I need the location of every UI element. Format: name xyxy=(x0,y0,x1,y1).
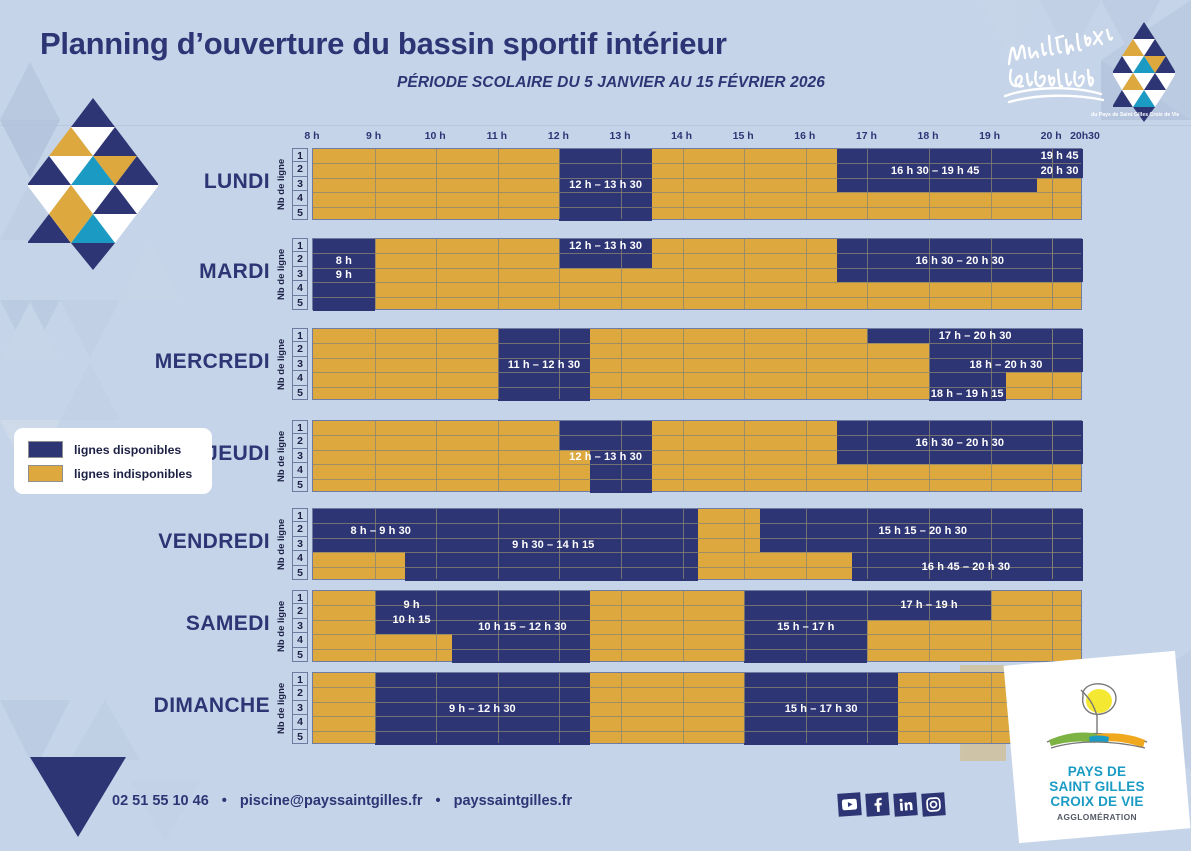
lane-track[interactable] xyxy=(313,343,1081,357)
day-row-mercredi: MERCREDINb de ligne1234511 h – 12 h 3017… xyxy=(0,328,1191,400)
lane-number-column: 12345 xyxy=(292,148,308,220)
hour-gridline xyxy=(991,239,992,309)
hour-gridline xyxy=(375,591,376,661)
available-slot[interactable] xyxy=(929,372,1006,386)
hour-gridline xyxy=(929,591,930,661)
hour-gridline xyxy=(559,149,560,219)
hour-gridline xyxy=(867,149,868,219)
hour-tick: 8 h xyxy=(304,130,319,142)
lane-track[interactable] xyxy=(313,421,1081,435)
available-slot[interactable] xyxy=(498,358,590,372)
available-slot[interactable] xyxy=(452,649,591,663)
lane-gridline xyxy=(313,253,1081,254)
available-slot[interactable] xyxy=(837,435,1083,449)
social-links xyxy=(838,793,945,816)
lane-track[interactable] xyxy=(313,207,1081,221)
day-grid: 9 h – 12 h 3015 h – 17 h 30 xyxy=(312,672,1082,744)
lane-track[interactable] xyxy=(313,149,1081,163)
lane-number: 4 xyxy=(292,191,308,205)
lane-track[interactable] xyxy=(313,634,1081,648)
day-grid: 12 h – 13 h 3016 h 30 – 20 h 30 xyxy=(312,420,1082,492)
available-slot[interactable] xyxy=(498,329,590,343)
hour-gridline xyxy=(683,329,684,399)
available-slot[interactable] xyxy=(313,253,375,267)
lane-gridline xyxy=(313,192,1081,193)
available-slot[interactable] xyxy=(929,387,1006,401)
available-slot[interactable] xyxy=(852,567,1083,581)
email-address[interactable]: piscine@payssaintgilles.fr xyxy=(240,793,423,809)
available-slot[interactable] xyxy=(837,253,1083,267)
separator-2: • xyxy=(436,793,441,809)
hour-gridline xyxy=(1052,591,1053,661)
hour-gridline xyxy=(1052,421,1053,491)
page-subtitle: PÉRIODE SCOLAIRE DU 5 JANVIER AU 15 FÉVR… xyxy=(40,74,825,92)
lane-gridline xyxy=(313,567,1081,568)
nb-de-ligne-axis-label: Nb de ligne xyxy=(276,328,290,400)
lane-gridline xyxy=(313,387,1081,388)
lane-gridline xyxy=(313,716,1081,717)
multiplexe-aquatique-logo: du Pays de Saint Gilles Croix de Vie xyxy=(995,14,1185,126)
hour-gridline xyxy=(559,329,560,399)
available-slot[interactable] xyxy=(498,387,590,401)
available-slot[interactable] xyxy=(375,702,591,716)
available-slot[interactable] xyxy=(375,687,591,701)
lane-number: 3 xyxy=(292,357,308,371)
legend-swatch-unavailable xyxy=(28,465,63,482)
hour-gridline xyxy=(1052,509,1053,579)
hour-gridline xyxy=(867,239,868,309)
hour-gridline xyxy=(1052,149,1053,219)
hour-gridline xyxy=(683,509,684,579)
hour-tick: 19 h xyxy=(979,130,1000,142)
lane-gridline xyxy=(313,268,1081,269)
lane-gridline xyxy=(313,282,1081,283)
lane-track[interactable] xyxy=(313,649,1081,663)
hour-gridline xyxy=(498,149,499,219)
hour-gridline xyxy=(991,329,992,399)
lane-number: 2 xyxy=(292,252,308,266)
available-slot[interactable] xyxy=(313,297,375,311)
hour-tick: 14 h xyxy=(671,130,692,142)
lane-track[interactable] xyxy=(313,509,1081,523)
available-slot[interactable] xyxy=(559,421,651,435)
available-slot[interactable] xyxy=(837,163,1083,177)
hour-gridline xyxy=(867,673,868,743)
hour-gridline xyxy=(621,591,622,661)
linkedin-icon[interactable] xyxy=(893,792,918,817)
nb-de-ligne-axis-label: Nb de ligne xyxy=(276,508,290,580)
lane-track[interactable] xyxy=(313,702,1081,716)
multiplexe-subtitle: du Pays de Saint Gilles Croix de Vie xyxy=(1091,112,1179,118)
hour-tick: 16 h xyxy=(794,130,815,142)
hour-gridline xyxy=(375,673,376,743)
available-slot[interactable] xyxy=(375,673,591,687)
available-slot[interactable] xyxy=(313,509,698,523)
day-row-vendredi: VENDREDINb de ligne123458 h – 9 h 309 h … xyxy=(0,508,1191,580)
lane-track[interactable] xyxy=(313,552,1081,566)
hour-gridline xyxy=(683,673,684,743)
hour-gridline xyxy=(991,673,992,743)
lane-gridline xyxy=(313,178,1081,179)
lane-track[interactable] xyxy=(313,716,1081,730)
day-grid: 8 h9 h12 h – 13 h 3016 h 30 – 20 h 30 xyxy=(312,238,1082,310)
lane-number: 2 xyxy=(292,604,308,618)
legend-item-unavailable: lignes indisponibles xyxy=(28,463,212,484)
youtube-icon[interactable] xyxy=(837,792,862,817)
available-slot[interactable] xyxy=(375,731,591,745)
lane-track[interactable] xyxy=(313,605,1081,619)
available-slot[interactable] xyxy=(837,239,1083,253)
available-slot[interactable] xyxy=(375,620,591,634)
lane-number: 4 xyxy=(292,715,308,729)
hour-tick: 12 h xyxy=(548,130,569,142)
hour-gridline xyxy=(559,591,560,661)
available-slot[interactable] xyxy=(405,567,698,581)
hour-gridline xyxy=(929,509,930,579)
lane-track[interactable] xyxy=(313,450,1081,464)
hour-gridline xyxy=(744,509,745,579)
hour-gridline xyxy=(744,673,745,743)
lane-gridline xyxy=(313,687,1081,688)
hour-gridline xyxy=(621,239,622,309)
hour-gridline xyxy=(867,591,868,661)
hour-gridline xyxy=(991,421,992,491)
hour-tick: 13 h xyxy=(609,130,630,142)
lane-gridline xyxy=(313,450,1081,451)
hour-gridline xyxy=(498,239,499,309)
lane-track[interactable] xyxy=(313,523,1081,537)
available-slot[interactable] xyxy=(559,192,651,206)
hour-gridline xyxy=(929,329,930,399)
agglo-line-3: CROIX DE VIE xyxy=(1011,794,1183,809)
lane-gridline xyxy=(313,479,1081,480)
lane-track[interactable] xyxy=(313,620,1081,634)
agglo-flower-icon xyxy=(1037,682,1157,760)
hour-gridline xyxy=(559,421,560,491)
lane-gridline xyxy=(313,297,1081,298)
lane-number: 4 xyxy=(292,463,308,477)
lane-gridline xyxy=(313,523,1081,524)
day-grid: 8 h – 9 h 309 h 30 – 14 h 1515 h 15 – 20… xyxy=(312,508,1082,580)
hour-gridline xyxy=(806,591,807,661)
time-axis: 8 h9 h10 h11 h12 h13 h14 h15 h16 h17 h18… xyxy=(0,130,1191,148)
available-slot[interactable] xyxy=(837,421,1083,435)
hour-gridline xyxy=(991,149,992,219)
nb-de-ligne-axis-label: Nb de ligne xyxy=(276,672,290,744)
available-slot[interactable] xyxy=(837,450,1083,464)
separator-1: • xyxy=(222,793,227,809)
lane-number-column: 12345 xyxy=(292,238,308,310)
lane-number-column: 12345 xyxy=(292,672,308,744)
phone-number[interactable]: 02 51 55 10 46 xyxy=(112,793,209,809)
lane-number: 1 xyxy=(292,238,308,252)
lane-number: 5 xyxy=(292,478,308,492)
hour-gridline xyxy=(929,239,930,309)
hour-gridline xyxy=(559,239,560,309)
hour-tick: 20 h xyxy=(1041,130,1062,142)
available-slot[interactable] xyxy=(313,268,375,282)
lane-number: 4 xyxy=(292,551,308,565)
hour-gridline xyxy=(559,509,560,579)
available-slot[interactable] xyxy=(375,591,591,605)
lane-number: 3 xyxy=(292,449,308,463)
hour-gridline xyxy=(929,421,930,491)
available-slot[interactable] xyxy=(313,282,375,296)
nb-de-ligne-axis-label: Nb de ligne xyxy=(276,590,290,662)
lane-track[interactable] xyxy=(313,239,1081,253)
available-slot[interactable] xyxy=(313,538,698,552)
lane-number: 3 xyxy=(292,701,308,715)
lane-number: 1 xyxy=(292,672,308,686)
lane-track[interactable] xyxy=(313,282,1081,296)
available-slot[interactable] xyxy=(559,207,651,221)
day-grid: 11 h – 12 h 3017 h – 20 h 3018 h – 20 h … xyxy=(312,328,1082,400)
day-row-samedi: SAMEDINb de ligne123459 h10 h 1510 h 15 … xyxy=(0,590,1191,662)
lane-number: 5 xyxy=(292,206,308,220)
available-slot[interactable] xyxy=(744,702,898,716)
hour-gridline xyxy=(744,239,745,309)
lane-gridline xyxy=(313,207,1081,208)
hour-gridline xyxy=(498,329,499,399)
lane-track[interactable] xyxy=(313,163,1081,177)
hour-gridline xyxy=(436,509,437,579)
available-slot[interactable] xyxy=(837,268,1083,282)
available-slot[interactable] xyxy=(852,552,1083,566)
lane-gridline xyxy=(313,634,1081,635)
day-label: MERCREDI xyxy=(155,350,270,374)
hour-tick: 9 h xyxy=(366,130,381,142)
lane-gridline xyxy=(313,163,1081,164)
available-slot[interactable] xyxy=(313,523,698,537)
hour-gridline xyxy=(436,149,437,219)
hour-gridline xyxy=(375,149,376,219)
hour-tick: 17 h xyxy=(856,130,877,142)
facebook-icon[interactable] xyxy=(865,792,890,817)
lane-track[interactable] xyxy=(313,372,1081,386)
available-slot[interactable] xyxy=(559,253,651,267)
lane-number-column: 12345 xyxy=(292,328,308,400)
hour-gridline xyxy=(683,149,684,219)
lane-number: 1 xyxy=(292,508,308,522)
available-slot[interactable] xyxy=(405,552,698,566)
lane-number: 2 xyxy=(292,686,308,700)
lane-track[interactable] xyxy=(313,358,1081,372)
hour-gridline xyxy=(436,591,437,661)
lane-number-column: 12345 xyxy=(292,590,308,662)
lane-number: 4 xyxy=(292,371,308,385)
legend-item-available: lignes disponibles xyxy=(28,439,212,460)
hour-gridline xyxy=(744,591,745,661)
lane-number: 1 xyxy=(292,328,308,342)
hour-gridline xyxy=(867,509,868,579)
lane-number: 2 xyxy=(292,162,308,176)
available-slot[interactable] xyxy=(559,239,651,253)
lane-number-column: 12345 xyxy=(292,508,308,580)
lane-number: 5 xyxy=(292,730,308,744)
hour-gridline xyxy=(806,149,807,219)
available-slot[interactable] xyxy=(375,605,591,619)
lane-track[interactable] xyxy=(313,538,1081,552)
available-slot[interactable] xyxy=(867,329,1083,343)
available-slot[interactable] xyxy=(559,178,651,192)
contact-info: 02 51 55 10 46 • piscine@payssaintgilles… xyxy=(112,793,572,809)
available-slot[interactable] xyxy=(559,163,651,177)
lane-track[interactable] xyxy=(313,464,1081,478)
lane-number: 4 xyxy=(292,281,308,295)
hour-gridline xyxy=(498,421,499,491)
lane-gridline xyxy=(313,538,1081,539)
lane-number: 5 xyxy=(292,386,308,400)
lane-gridline xyxy=(313,620,1081,621)
available-slot[interactable] xyxy=(760,509,1083,523)
hour-gridline xyxy=(436,421,437,491)
lane-gridline xyxy=(313,358,1081,359)
hour-gridline xyxy=(929,149,930,219)
available-slot[interactable] xyxy=(498,343,590,357)
available-slot[interactable] xyxy=(744,731,898,745)
day-label: JEUDI xyxy=(206,442,270,466)
lane-number: 2 xyxy=(292,522,308,536)
hour-gridline xyxy=(436,329,437,399)
legend-label-available: lignes disponibles xyxy=(74,443,181,457)
legend: lignes disponibles lignes indisponibles xyxy=(14,428,212,494)
available-slot[interactable] xyxy=(929,358,1083,372)
available-slot[interactable] xyxy=(559,435,651,449)
hour-gridline xyxy=(744,149,745,219)
hour-gridline xyxy=(744,421,745,491)
hour-tick: 18 h xyxy=(917,130,938,142)
hour-gridline xyxy=(683,239,684,309)
lane-gridline xyxy=(313,605,1081,606)
lane-track[interactable] xyxy=(313,268,1081,282)
hour-gridline xyxy=(744,329,745,399)
lane-track[interactable] xyxy=(313,687,1081,701)
lane-track[interactable] xyxy=(313,673,1081,687)
lane-number: 1 xyxy=(292,420,308,434)
website-url[interactable]: payssaintgilles.fr xyxy=(454,793,572,809)
lane-track[interactable] xyxy=(313,329,1081,343)
lane-track[interactable] xyxy=(313,591,1081,605)
nb-de-ligne-axis-label: Nb de ligne xyxy=(276,420,290,492)
lane-track[interactable] xyxy=(313,567,1081,581)
hour-gridline xyxy=(683,591,684,661)
legend-swatch-available xyxy=(28,441,63,458)
lane-gridline xyxy=(313,435,1081,436)
hour-gridline xyxy=(436,673,437,743)
hour-gridline xyxy=(991,591,992,661)
agglo-wordmark: PAYS DE SAINT GILLES CROIX DE VIE AGGLOM… xyxy=(1011,764,1183,822)
hour-gridline xyxy=(498,591,499,661)
instagram-icon[interactable] xyxy=(921,792,946,817)
available-slot[interactable] xyxy=(744,716,898,730)
hour-gridline xyxy=(806,421,807,491)
lane-number: 3 xyxy=(292,619,308,633)
hour-gridline xyxy=(991,509,992,579)
lane-number: 5 xyxy=(292,648,308,662)
page-header: Planning d’ouverture du bassin sportif i… xyxy=(0,0,1191,130)
day-grid: 12 h – 13 h 3016 h 30 – 19 h 4519 h 4520… xyxy=(312,148,1082,220)
available-slot[interactable] xyxy=(929,343,1083,357)
lane-number: 5 xyxy=(292,296,308,310)
day-grid: 9 h10 h 1510 h 15 – 12 h 3015 h – 17 h17… xyxy=(312,590,1082,662)
hour-gridline xyxy=(806,239,807,309)
hour-gridline xyxy=(375,329,376,399)
lane-number: 2 xyxy=(292,342,308,356)
day-label: SAMEDI xyxy=(186,612,270,636)
multiplexe-diamond-icon xyxy=(1113,22,1175,122)
hour-gridline xyxy=(929,673,930,743)
lane-gridline xyxy=(313,702,1081,703)
hour-gridline xyxy=(806,329,807,399)
lane-number: 1 xyxy=(292,148,308,162)
available-slot[interactable] xyxy=(313,239,375,253)
lane-track[interactable] xyxy=(313,253,1081,267)
available-slot[interactable] xyxy=(498,372,590,386)
available-slot[interactable] xyxy=(744,687,898,701)
lane-number: 1 xyxy=(292,590,308,604)
hour-gridline xyxy=(867,329,868,399)
hour-gridline xyxy=(621,673,622,743)
day-label: MARDI xyxy=(199,260,270,284)
lane-number: 4 xyxy=(292,633,308,647)
day-row-lundi: LUNDINb de ligne1234512 h – 13 h 3016 h … xyxy=(0,148,1191,220)
lane-track[interactable] xyxy=(313,731,1081,745)
page-title: Planning d’ouverture du bassin sportif i… xyxy=(40,26,727,62)
lane-gridline xyxy=(313,649,1081,650)
lane-track[interactable] xyxy=(313,178,1081,192)
hour-tick: 20h30 xyxy=(1070,130,1100,142)
hour-gridline xyxy=(498,509,499,579)
nb-de-ligne-axis-label: Nb de ligne xyxy=(276,148,290,220)
agglo-subtitle: AGGLOMÉRATION xyxy=(1011,812,1183,822)
available-slot[interactable] xyxy=(837,149,1083,163)
lane-gridline xyxy=(313,731,1081,732)
available-slot[interactable] xyxy=(375,716,591,730)
hour-gridline xyxy=(621,149,622,219)
lane-track[interactable] xyxy=(313,192,1081,206)
lane-number: 5 xyxy=(292,566,308,580)
lane-track[interactable] xyxy=(313,297,1081,311)
lane-track[interactable] xyxy=(313,479,1081,493)
lane-gridline xyxy=(313,372,1081,373)
available-slot[interactable] xyxy=(744,673,898,687)
hour-gridline xyxy=(375,239,376,309)
day-row-mardi: MARDINb de ligne123458 h9 h12 h – 13 h 3… xyxy=(0,238,1191,310)
hour-gridline xyxy=(375,421,376,491)
nb-de-ligne-axis-label: Nb de ligne xyxy=(276,238,290,310)
hour-gridline xyxy=(621,421,622,491)
available-slot[interactable] xyxy=(760,523,1083,537)
available-slot[interactable] xyxy=(760,538,1083,552)
lane-track[interactable] xyxy=(313,435,1081,449)
available-slot[interactable] xyxy=(452,634,591,648)
hour-gridline xyxy=(621,329,622,399)
legend-label-unavailable: lignes indisponibles xyxy=(74,467,192,481)
lane-number: 2 xyxy=(292,434,308,448)
hour-gridline xyxy=(806,509,807,579)
lane-number: 3 xyxy=(292,177,308,191)
pays-de-saint-gilles-logo: PAYS DE SAINT GILLES CROIX DE VIE AGGLOM… xyxy=(1004,651,1191,843)
hour-gridline xyxy=(498,673,499,743)
lane-gridline xyxy=(313,464,1081,465)
lane-track[interactable] xyxy=(313,387,1081,401)
lane-number: 3 xyxy=(292,537,308,551)
hour-gridline xyxy=(806,673,807,743)
lane-gridline xyxy=(313,343,1081,344)
available-slot[interactable] xyxy=(559,149,651,163)
hour-gridline xyxy=(559,673,560,743)
lane-gridline xyxy=(313,552,1081,553)
